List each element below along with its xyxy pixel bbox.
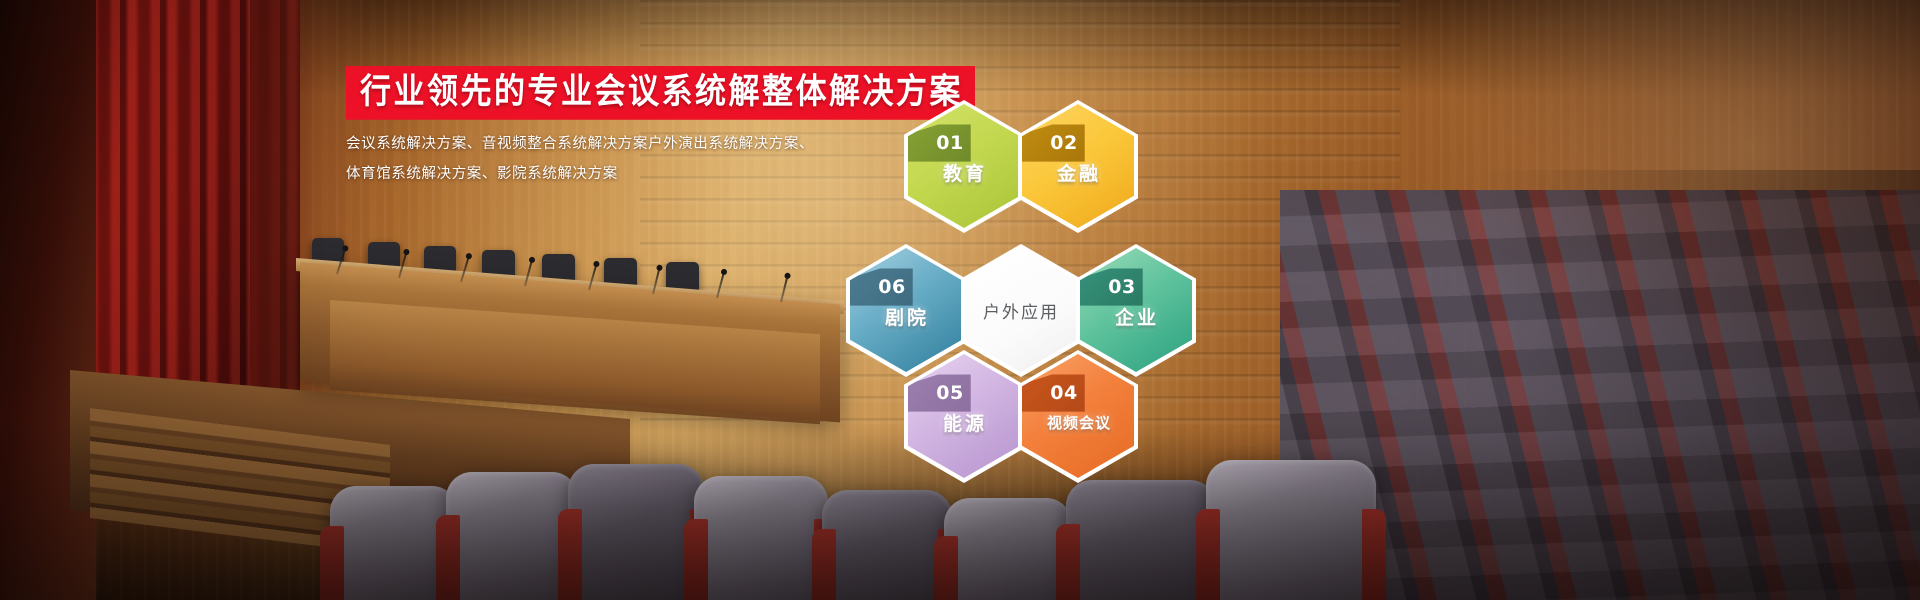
banner-stage: 行业领先的专业会议系统解整体解决方案 会议系统解决方案、音视频整合系统解决方案户… (0, 0, 1920, 600)
hex-label-04: 视频会议 (1047, 412, 1111, 433)
hex-label-02: 金融 (1057, 159, 1101, 186)
hex-label-center: 户外应用 (983, 298, 1059, 323)
hex-label-01: 教育 (943, 159, 987, 186)
hex-label-03: 企业 (1115, 303, 1159, 330)
hex-label-05: 能源 (943, 409, 987, 436)
hex-diagram: 01 教育 02 金融 06 剧院 户外应用 (836, 104, 1256, 484)
hex-label-06: 剧院 (885, 303, 929, 330)
